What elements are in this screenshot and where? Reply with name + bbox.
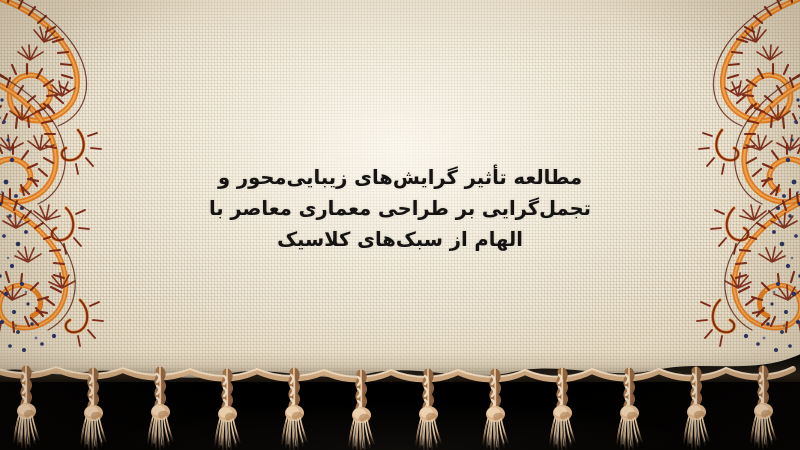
page-title: مطالعه تأثیر گرایش‌های زیبایی‌محور و تجم…: [170, 162, 630, 255]
title-line-3: الهام از سبک‌های کلاسیک: [170, 224, 630, 255]
title-line-1: مطالعه تأثیر گرایش‌های زیبایی‌محور و: [170, 162, 630, 193]
title-card-canvas: مطالعه تأثیر گرایش‌های زیبایی‌محور و تجم…: [0, 0, 800, 450]
title-line-2: تجمل‌گرایی بر طراحی معماری معاصر با: [170, 193, 630, 224]
